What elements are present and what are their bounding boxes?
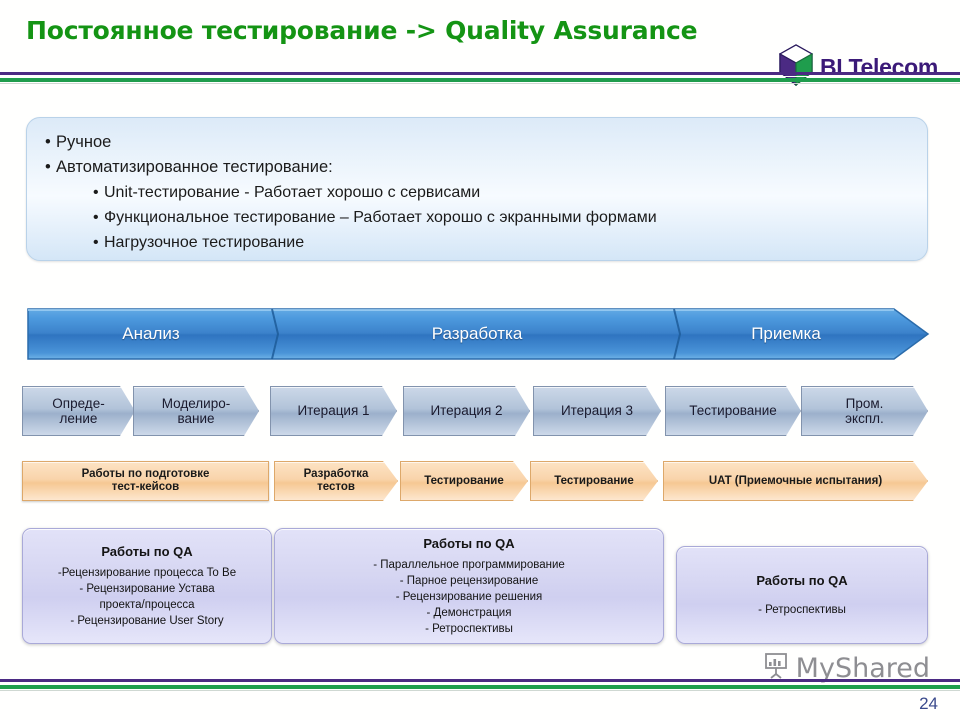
qa-box-line: - Парное рецензирование [285, 573, 653, 589]
bullet-marker: • [45, 155, 56, 180]
qa-box-line: - Рецензирование User Story [33, 613, 261, 629]
step-label-line1: Моделиро- [162, 396, 230, 411]
header-rule-shadow [0, 83, 960, 84]
step-label-line1: Тестирование [685, 403, 781, 418]
step-label-line2: экспл. [845, 411, 884, 426]
footer-rule-gap [0, 683, 960, 684]
list-item: •Функциональное тестирование – Работает … [41, 205, 909, 230]
step-label-line1: Пром. [846, 396, 884, 411]
bullet-marker: • [93, 230, 104, 255]
step-label-line2: вание [177, 411, 214, 426]
qa-box-line: - Рецензирование Устава [33, 581, 261, 597]
footer-rule-purple [0, 679, 960, 682]
footer-rule-shadow [0, 690, 960, 691]
bullet-marker: • [93, 180, 104, 205]
phase-label-acceptance: Приемка [680, 306, 892, 362]
qa-box-title: Работы по QA [285, 536, 653, 551]
work-label-line2: тест-кейсов [112, 481, 179, 493]
step-chevron-iteration-3: Итерация 3 [533, 386, 661, 436]
list-item-label: Автоматизированное тестирование: [56, 158, 333, 176]
list-item-label: Нагрузочное тестирование [104, 234, 304, 251]
bullet-marker: • [45, 130, 56, 155]
page-number: 24 [919, 694, 938, 714]
step-label-line2: ление [60, 411, 98, 426]
work-label-line1: Тестирование [420, 475, 508, 488]
step-label-line1: Итерация 2 [426, 403, 506, 418]
work-box-test-case-prep: Работы по подготовкетест-кейсов [22, 461, 269, 501]
qa-box-title: Работы по QA [33, 544, 261, 559]
list-item: •Ручное [41, 130, 909, 155]
qa-box-analysis: Работы по QA -Рецензирование процесса To… [22, 528, 272, 644]
list-item: •Нагрузочное тестирование [41, 230, 909, 255]
qa-box-line: - Рецензирование решения [285, 589, 653, 605]
header-rule-green [0, 78, 960, 82]
work-label-line1: Тестирование [550, 475, 638, 488]
work-chevron-test-development: Разработкатестов [274, 461, 398, 501]
step-chevron-production: Пром.экспл. [801, 386, 928, 436]
qa-box-line: -Рецензирование процесса To Be [33, 565, 261, 581]
work-chevron-testing-2: Тестирование [530, 461, 658, 501]
slide: Постоянное тестирование -> Quality Assur… [0, 0, 960, 720]
list-item-label: Ручное [56, 133, 111, 151]
footer-rule-green [0, 685, 960, 689]
page-title: Постоянное тестирование -> Quality Assur… [26, 16, 697, 45]
qa-box-title: Работы по QA [687, 573, 917, 588]
bullet-list: •Ручное •Автоматизированное тестирование… [41, 130, 909, 255]
qa-box-acceptance: Работы по QA - Ретроспективы [676, 546, 928, 644]
list-item: •Unit-тестирование - Работает хорошо с с… [41, 180, 909, 205]
bullet-marker: • [93, 205, 104, 230]
list-item: •Автоматизированное тестирование: [41, 155, 909, 180]
step-label-line1: Итерация 1 [293, 403, 373, 418]
list-item-label: Unit-тестирование - Работает хорошо с се… [104, 184, 480, 201]
work-label-line1: UAT (Приемочные испытания) [705, 475, 886, 488]
work-label-line1: Разработка [304, 468, 369, 480]
work-label-line2: тестов [317, 481, 355, 493]
phase-label-analysis: Анализ [26, 306, 276, 362]
step-chevron-iteration-1: Итерация 1 [270, 386, 397, 436]
qa-box-line: - Ретроспективы [285, 621, 653, 637]
testing-types-panel: •Ручное •Автоматизированное тестирование… [26, 117, 928, 261]
work-chevron-testing-1: Тестирование [400, 461, 528, 501]
qa-box-line: - Демонстрация [285, 605, 653, 621]
step-chevron-testing: Тестирование [665, 386, 801, 436]
work-chevron-uat: UAT (Приемочные испытания) [663, 461, 928, 501]
qa-box-development: Работы по QA - Параллельное программиров… [274, 528, 664, 644]
list-item-label: Функциональное тестирование – Работает х… [104, 209, 657, 226]
step-chevron-modeling: Моделиро-вание [133, 386, 259, 436]
step-label-line1: Итерация 3 [557, 403, 637, 418]
qa-box-line: проекта/процесса [33, 597, 261, 613]
step-chevron-definition: Опреде-ление [22, 386, 135, 436]
header-rule-gap [0, 76, 960, 77]
work-label-line1: Работы по подготовке [82, 468, 210, 480]
qa-box-line: - Параллельное программирование [285, 557, 653, 573]
header-rule-purple [0, 72, 960, 75]
phase-arrow-bar: Анализ Разработка Приемка [26, 306, 930, 362]
phase-label-development: Разработка [278, 306, 676, 362]
step-label-line1: Опреде- [52, 396, 104, 411]
step-chevron-iteration-2: Итерация 2 [403, 386, 530, 436]
qa-box-line: - Ретроспективы [687, 602, 917, 618]
